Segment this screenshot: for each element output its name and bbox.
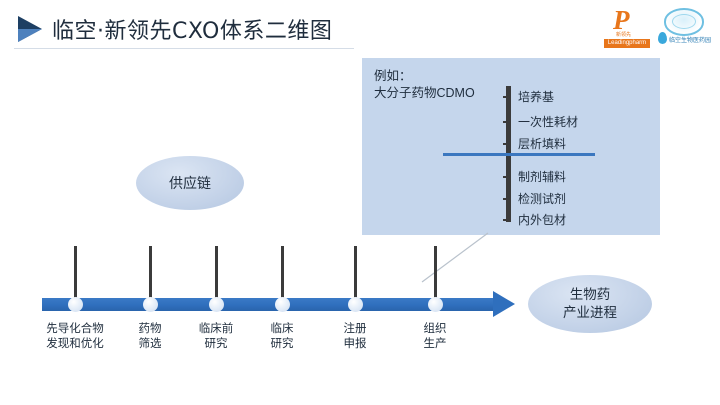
timeline-dot-icon [143,297,158,312]
callout-blue-divider [443,153,595,156]
timeline-stem [215,246,218,298]
timeline-dot-icon [428,297,443,312]
supply-chain-oval: 供应链 [136,156,244,210]
callout-label: 例如： 大分子药物CDMO [374,68,475,102]
timeline-stop[interactable]: 临床前 研究 [216,298,217,299]
leadingpharm-cn-label: 新领先 [616,31,631,38]
timeline-dot-icon [209,297,224,312]
bio-process-oval: 生物药 产业进程 [528,275,652,333]
tick-icon [503,143,511,145]
timeline-stem [74,246,77,298]
airport-bio-cn-label: 临空生物医药园 [669,35,711,44]
timeline-stem [149,246,152,298]
tick-icon [503,121,511,123]
example-callout-box: 例如： 大分子药物CDMO 培养基 一次性耗材 层析填料 制剂辅料 检测试剂 内… [362,58,660,235]
bio-process-label: 生物药 产业进程 [563,286,617,322]
droplet-icon [658,32,667,44]
swirl-icon [664,8,704,36]
timeline-stop-label: 组织 生产 [380,322,490,352]
callout-item-label: 一次性耗材 [518,115,578,129]
timeline-dot-icon [275,297,290,312]
callout-label-line2: 大分子药物CDMO [374,85,475,102]
tick-icon [503,96,511,98]
timeline-stop[interactable]: 组织 生产 [435,298,436,299]
callout-connector-line [420,232,490,284]
supply-chain-label: 供应链 [169,174,211,192]
timeline-stem [281,246,284,298]
header-divider [14,48,354,49]
tick-icon [503,176,511,178]
tick-icon [503,219,511,221]
bio-process-label-line2: 产业进程 [563,304,617,322]
callout-item-label: 制剂辅料 [518,170,566,184]
leadingpharm-logo: P 新领先 Leadingpharm [604,6,650,50]
timeline-stop[interactable]: 注册 申报 [355,298,356,299]
callout-label-line1: 例如： [374,68,475,85]
timeline-stop[interactable]: 临床 研究 [282,298,283,299]
callout-item-label: 培养基 [518,90,554,104]
slide-canvas: 临空·新领先CXO体系二维图 P 新领先 Leadingpharm 临空生物医药… [0,0,720,405]
timeline-stem [434,246,437,298]
leadingpharm-p-icon: P [613,7,630,34]
timeline-dot-icon [68,297,83,312]
callout-item-label: 内外包材 [518,213,566,227]
timeline-stop[interactable]: 先导化合物 发现和优化 [75,298,76,299]
page-title: 临空·新领先CXO体系二维图 [52,13,332,45]
callout-item-label: 检测试剂 [518,192,566,206]
timeline-bar [42,298,494,311]
timeline-stem [354,246,357,298]
logo-group: P 新领先 Leadingpharm 临空生物医药园 [604,6,712,50]
airport-bio-group-logo: 临空生物医药园 [654,8,712,48]
timeline-stop[interactable]: 药物 筛选 [150,298,151,299]
tick-icon [503,198,511,200]
callout-item-label: 层析填料 [518,137,566,151]
leadingpharm-en-label: Leadingpharm [604,39,650,48]
timeline-dot-icon [348,297,363,312]
bio-process-label-line1: 生物药 [563,286,617,304]
timeline-arrow-icon [493,291,515,317]
